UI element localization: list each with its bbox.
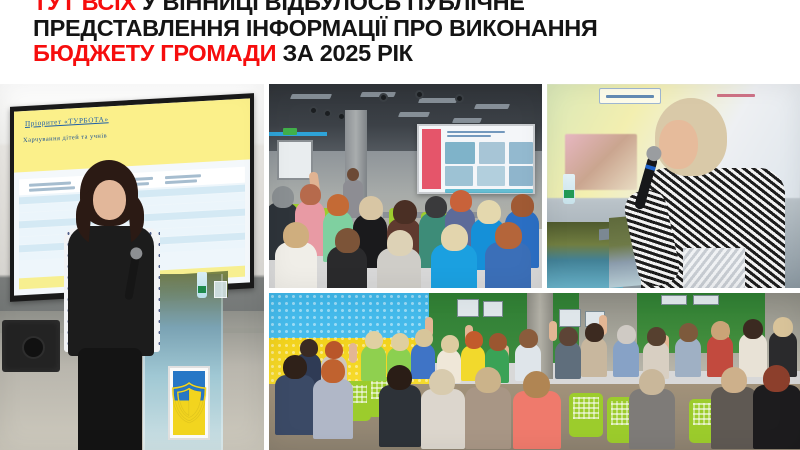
slide-side-bar	[422, 129, 441, 189]
wall-picture-frame	[661, 295, 687, 305]
audience-head	[721, 367, 747, 393]
audience-body	[753, 385, 800, 449]
raised-hand	[349, 343, 357, 363]
trident-icon: 🛡	[164, 383, 215, 423]
audience-head	[773, 317, 793, 337]
blonde-speaker-figure	[635, 98, 785, 288]
audience-head	[272, 186, 294, 208]
audience-body	[421, 389, 465, 449]
headline-line-3: БЮДЖЕТУ ГРОМАДИ ЗА 2025 РІК	[33, 41, 773, 67]
page-title: ТУТ ВСІХ У ВІННИЦІ ВІДБУЛОСЬ ПУБЛІЧНЕ ПР…	[33, 0, 773, 67]
ceiling-lamp-icon	[379, 93, 388, 102]
audience-head	[585, 323, 604, 342]
audience-head	[393, 200, 417, 224]
audience-body	[581, 337, 607, 377]
speaker-face	[93, 180, 126, 220]
audience-head	[283, 222, 309, 248]
ukraine-emblem-card: 🛡	[168, 366, 210, 440]
photo-auditorium	[269, 84, 542, 288]
audience-head	[321, 359, 345, 383]
audience-head	[300, 339, 318, 357]
audience-head	[429, 369, 455, 395]
audience-body	[613, 339, 639, 377]
audience-head	[327, 194, 349, 216]
photo-speaker-podium: Пріоритет «ТУРБОТА» Харчування дітей та …	[0, 84, 264, 450]
audience-body	[313, 379, 353, 439]
audience-head	[465, 331, 483, 349]
loudspeaker	[2, 320, 60, 372]
speaker-figure	[62, 160, 162, 450]
audience-head	[441, 335, 459, 353]
audience-head	[711, 321, 730, 340]
audience-body	[465, 387, 511, 449]
audience-head	[425, 196, 447, 218]
green-chair	[569, 393, 603, 437]
audience-body	[711, 387, 757, 449]
audience-head	[365, 331, 383, 349]
ceiling-lamp-icon	[309, 106, 318, 115]
news-card: ТУТ ВСІХ У ВІННИЦІ ВІДБУЛОСЬ ПУБЛІЧНЕ ПР…	[0, 0, 800, 450]
audience-body	[275, 375, 315, 435]
audience-body	[379, 385, 421, 447]
ceiling-lamp-icon	[323, 109, 332, 118]
drinking-glass	[214, 281, 227, 298]
ceiling-lamp-icon	[415, 90, 424, 99]
audience-head	[475, 367, 501, 393]
audience-head	[415, 329, 433, 347]
audience-head	[300, 184, 321, 205]
photo-collage: Пріоритет «ТУРБОТА» Харчування дітей та …	[0, 84, 800, 450]
water-bottle	[563, 174, 575, 204]
headline-line-3-black: ЗА 2025 РІК	[282, 40, 412, 66]
audience-head	[387, 230, 413, 256]
wall-picture-frame	[483, 301, 503, 317]
audience-head	[617, 325, 636, 344]
wall-panel	[277, 140, 313, 180]
audience-head	[523, 371, 550, 398]
wall-picture-frame	[693, 295, 719, 305]
audience-head	[763, 365, 790, 392]
audience-head	[477, 200, 501, 224]
headline-line-2: ПРЕДСТАВЛЕННЯ ІНФОРМАЦІЇ ПРО ВИКОНАННЯ	[33, 16, 773, 42]
photo-blonde-speaker	[547, 84, 800, 288]
raised-hand	[549, 321, 557, 341]
audience-head	[283, 355, 307, 379]
speaker-face	[659, 120, 698, 169]
audience-body	[629, 389, 675, 449]
exit-sign-icon	[283, 128, 297, 135]
audience-head	[450, 190, 472, 212]
wall-picture-frame	[457, 299, 479, 317]
audience-body	[555, 341, 581, 379]
audience-body	[361, 345, 386, 381]
blue-wall-stripe	[269, 132, 327, 136]
audience-head	[743, 319, 763, 339]
audience-head	[559, 327, 578, 346]
audience-head	[489, 333, 507, 351]
photo-voting-crowd	[269, 293, 800, 450]
speaker-legs	[78, 348, 142, 450]
headline-line-3-red: БЮДЖЕТУ ГРОМАДИ	[33, 40, 276, 66]
audience-head	[391, 333, 409, 351]
audience-body	[513, 391, 561, 449]
wall-picture-frame	[559, 309, 581, 327]
headline-line-1-red: ТУТ ВСІХ	[33, 0, 136, 15]
audience-head	[679, 323, 698, 342]
headline-line-1-black: У ВІННИЦІ ВІДБУЛОСЬ ПУБЛІЧНЕ	[142, 0, 525, 15]
striped-top-panel	[683, 248, 745, 288]
audience-head	[639, 369, 665, 395]
audience-head	[519, 329, 538, 348]
audience-head	[441, 224, 468, 251]
audience-body	[275, 242, 317, 288]
audience-head	[359, 196, 383, 220]
speaker-torso	[68, 226, 154, 356]
headline-line-1: ТУТ ВСІХ У ВІННИЦІ ВІДБУЛОСЬ ПУБЛІЧНЕ	[33, 0, 773, 16]
audience-head	[647, 327, 666, 346]
audience-head	[495, 222, 522, 249]
water-bottle	[197, 272, 207, 298]
audience-head	[387, 365, 412, 390]
audience-head	[325, 341, 343, 359]
projection-screen	[417, 124, 535, 194]
audience-head	[335, 228, 360, 253]
slide-photo-block	[565, 134, 637, 190]
audience-body	[675, 337, 701, 377]
ceiling-lamp-icon	[455, 94, 464, 103]
audience-head	[511, 194, 534, 217]
